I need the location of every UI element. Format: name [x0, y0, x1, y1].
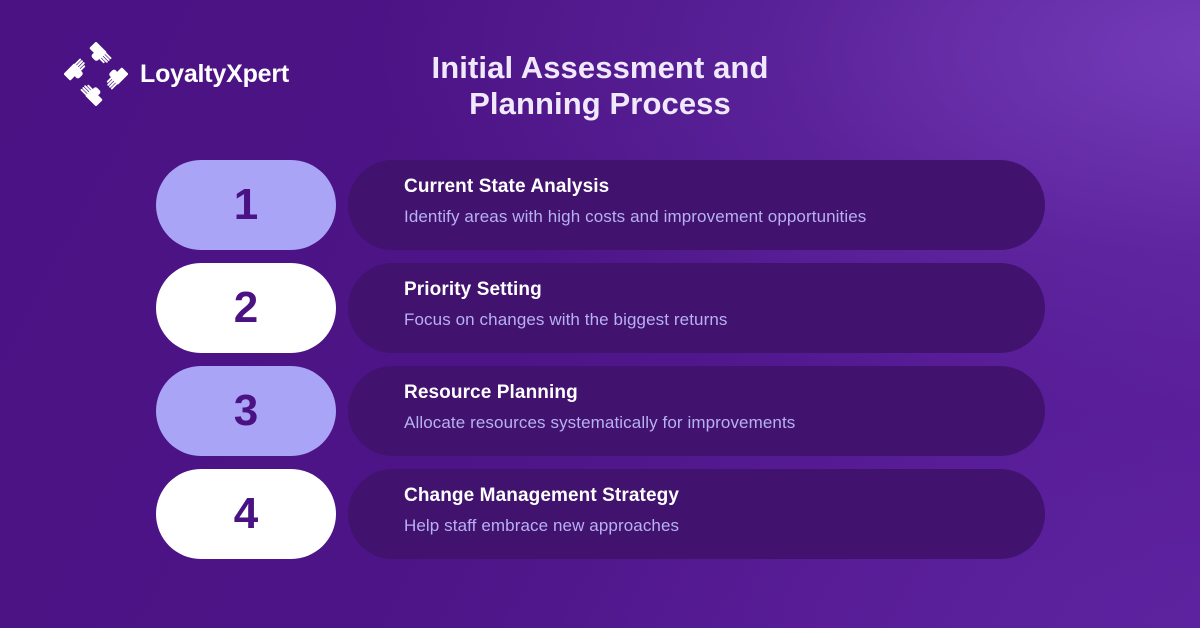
step-description: Focus on changes with the biggest return…	[404, 309, 989, 331]
step-row: 1 Current State Analysis Identify areas …	[0, 160, 1200, 250]
step-number-badge-1: 1	[156, 160, 336, 250]
step-description: Help staff embrace new approaches	[404, 515, 989, 537]
step-row: 2 Priority Setting Focus on changes with…	[0, 263, 1200, 353]
step-title: Current State Analysis	[404, 175, 989, 199]
header: LoyaltyXpert Initial Assessment and Plan…	[0, 0, 1200, 146]
step-card-1: Current State Analysis Identify areas wi…	[348, 160, 1045, 250]
page-title-line-2: Planning Process	[330, 86, 870, 122]
four-hands-diamond-logo-icon	[64, 42, 128, 106]
brand-name: LoyaltyXpert	[140, 60, 289, 89]
step-row: 4 Change Management Strategy Help staff …	[0, 469, 1200, 559]
step-row: 3 Resource Planning Allocate resources s…	[0, 366, 1200, 456]
step-title: Change Management Strategy	[404, 484, 989, 508]
step-number-badge-3: 3	[156, 366, 336, 456]
infographic-canvas: LoyaltyXpert Initial Assessment and Plan…	[0, 0, 1200, 628]
step-number-badge-4: 4	[156, 469, 336, 559]
step-title: Resource Planning	[404, 381, 989, 405]
page-title-line-1: Initial Assessment and	[330, 50, 870, 86]
step-card-3: Resource Planning Allocate resources sys…	[348, 366, 1045, 456]
step-card-2: Priority Setting Focus on changes with t…	[348, 263, 1045, 353]
step-number-badge-2: 2	[156, 263, 336, 353]
brand-logo: LoyaltyXpert	[64, 42, 289, 106]
step-title: Priority Setting	[404, 278, 989, 302]
steps-list: 1 Current State Analysis Identify areas …	[0, 160, 1200, 559]
step-description: Allocate resources systematically for im…	[404, 412, 989, 434]
step-description: Identify areas with high costs and impro…	[404, 206, 989, 228]
step-card-4: Change Management Strategy Help staff em…	[348, 469, 1045, 559]
page-title: Initial Assessment and Planning Process	[330, 50, 870, 122]
